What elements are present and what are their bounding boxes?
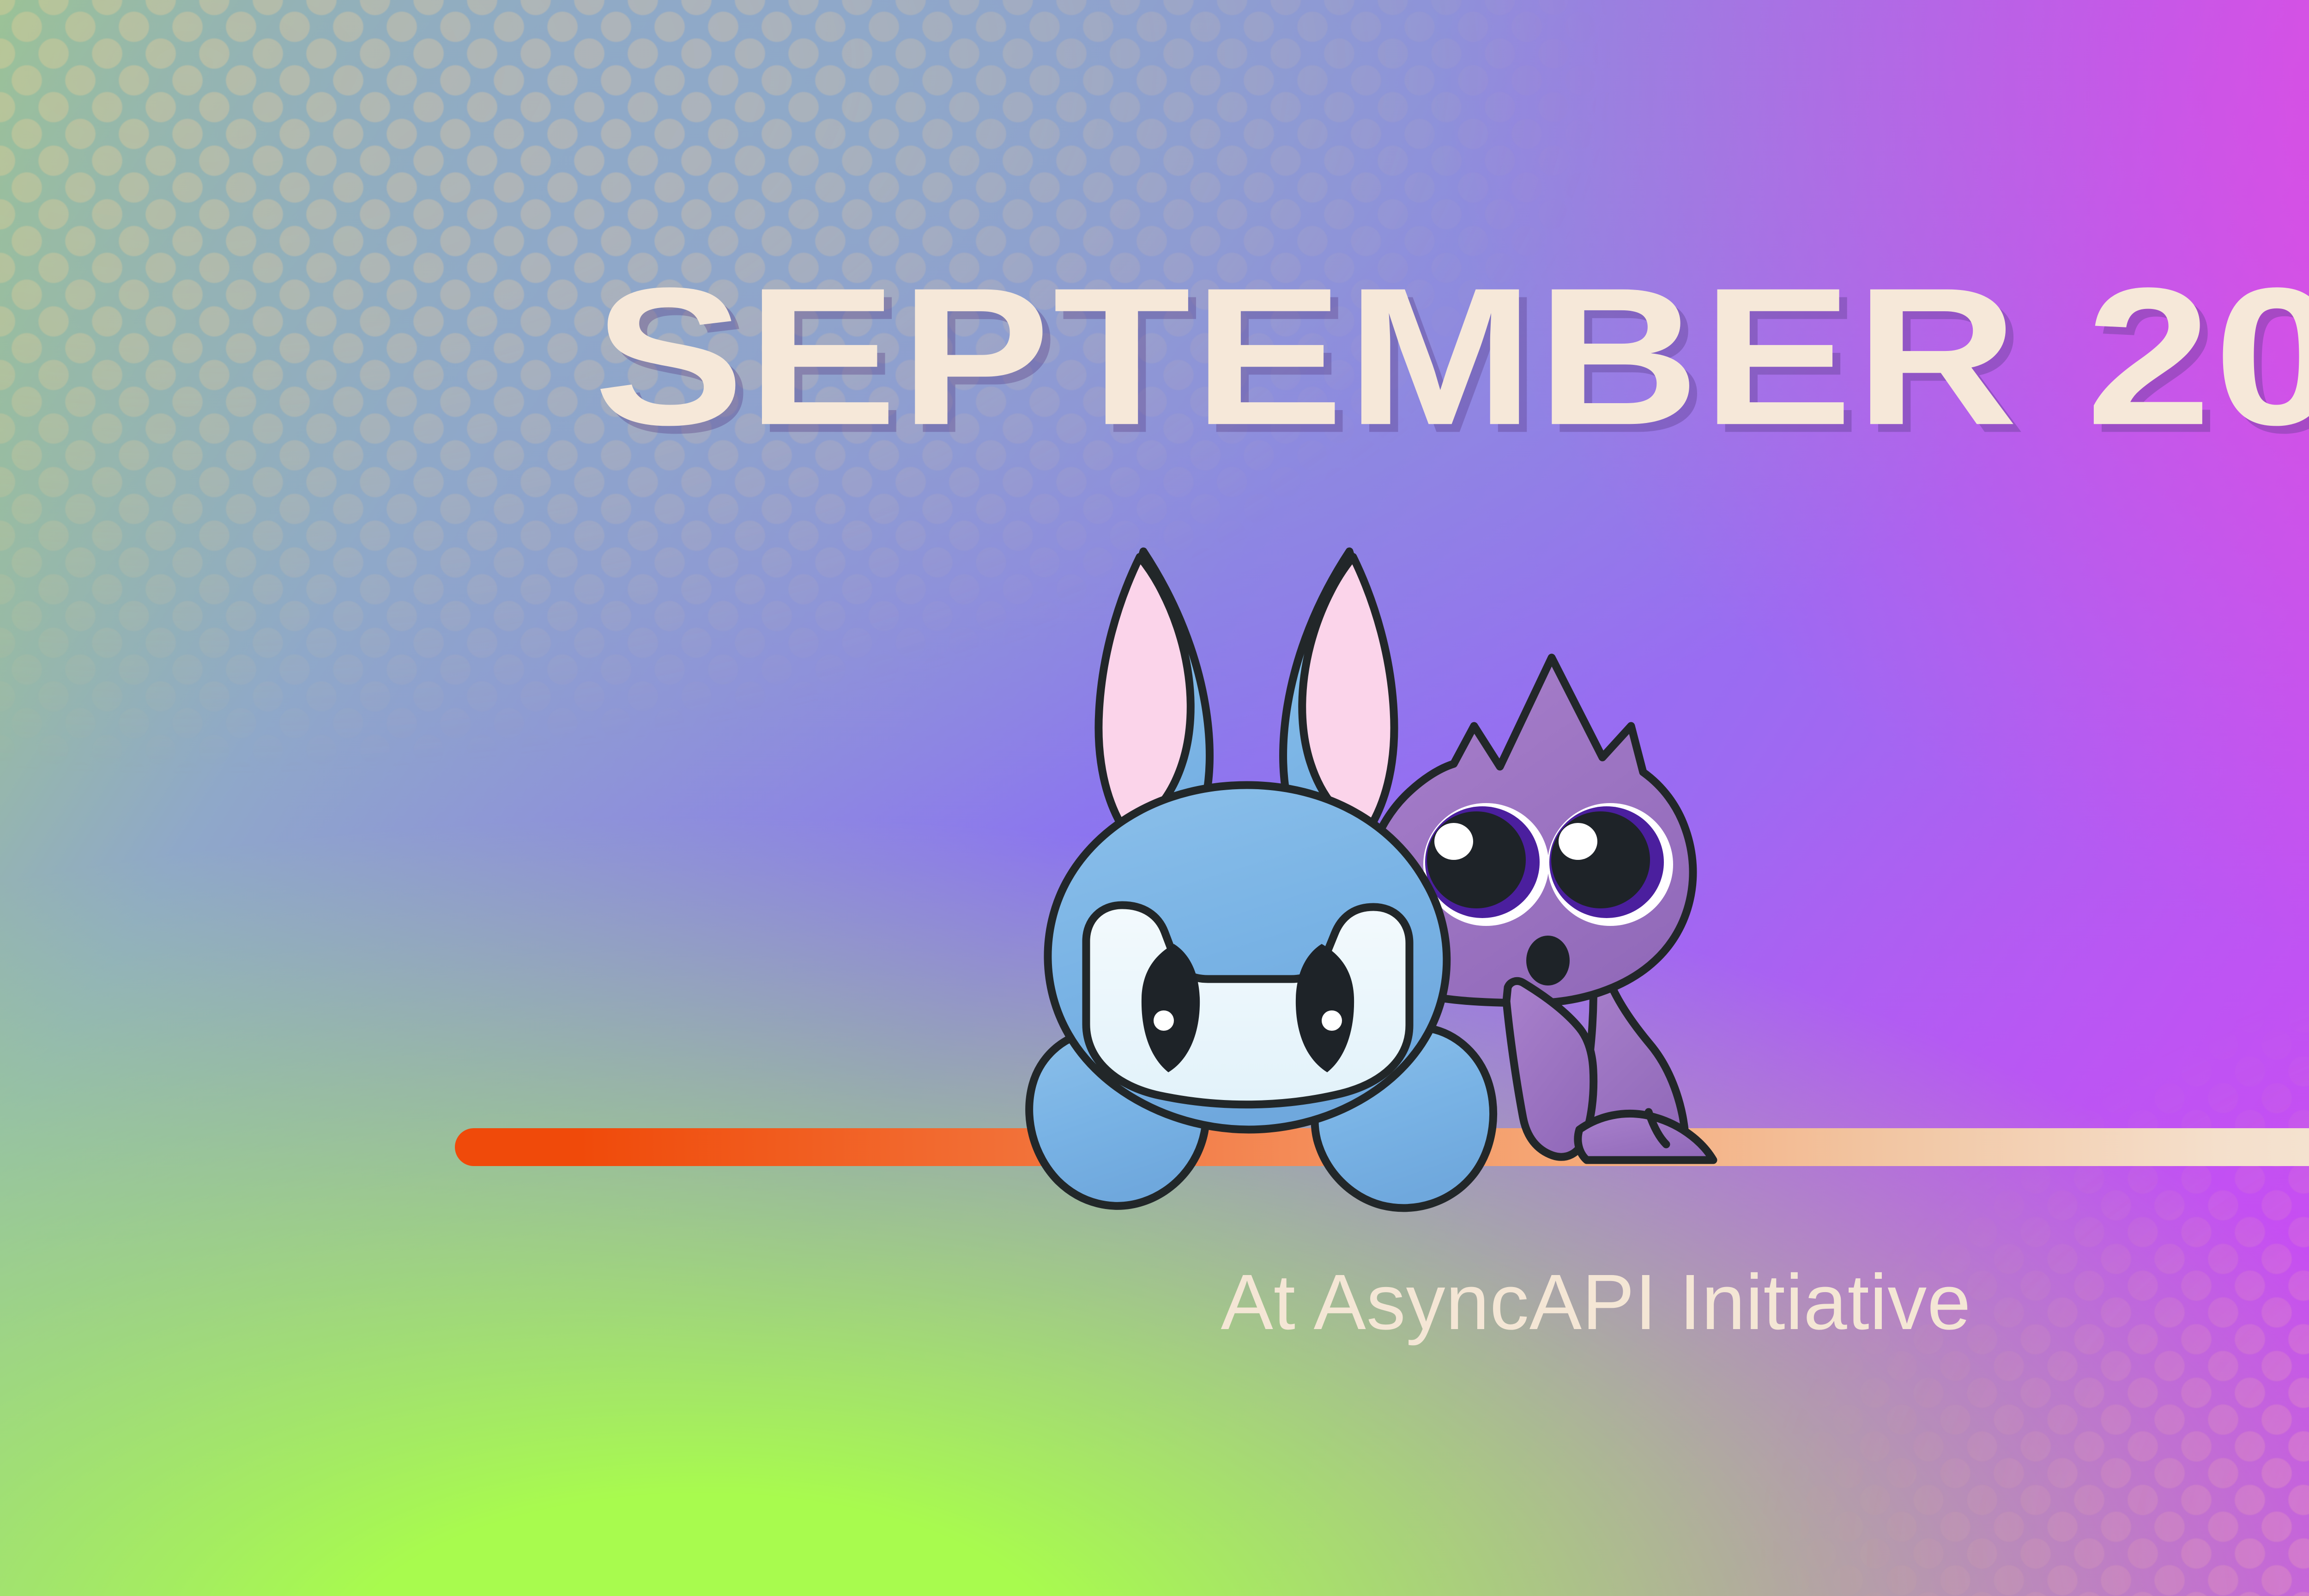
sprite-eye-left-highlight	[1434, 823, 1473, 860]
bunny-eye-left-highlight	[1154, 1010, 1174, 1031]
sprite-forearm	[1578, 1113, 1713, 1160]
bunny-eye-right-highlight	[1322, 1010, 1342, 1031]
september-2025-banner: SEPTEMBER 2025	[0, 0, 2309, 1596]
sprite-mouth	[1526, 936, 1570, 985]
sprite-eye-right-pupil	[1551, 811, 1650, 908]
mascot-illustration-group	[1007, 517, 1912, 1201]
sprite-eye-right-highlight	[1559, 823, 1597, 860]
sprite-eye-left-pupil	[1427, 811, 1526, 908]
subtitle: At AsyncAPI Initiative	[0, 1263, 2309, 1342]
blue-bunny-mascot	[1029, 551, 1493, 1208]
page-title: SEPTEMBER 2025	[0, 259, 2309, 454]
